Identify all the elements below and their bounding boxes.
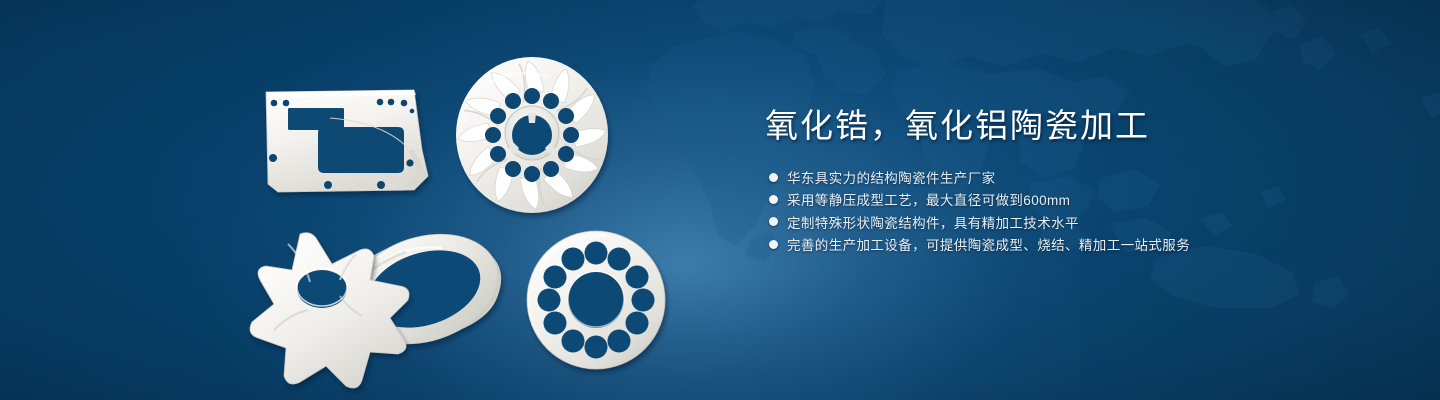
list-item-label: 完善的生产加工设备，可提供陶瓷成型、烧结、精加工一站式服务 bbox=[787, 234, 1190, 254]
product-photo-cluster bbox=[0, 0, 720, 400]
list-item: 完善的生产加工设备，可提供陶瓷成型、烧结、精加工一站式服务 bbox=[765, 233, 1405, 255]
list-item-label: 采用等静压成型工艺，最大直径可做到600mm bbox=[787, 189, 1070, 209]
banner-feature-list: 华东具实力的结构陶瓷件生产厂家 采用等静压成型工艺，最大直径可做到600mm 定… bbox=[765, 166, 1405, 255]
list-item-label: 华东具实力的结构陶瓷件生产厂家 bbox=[787, 167, 996, 187]
bullet-dot-icon bbox=[769, 217, 778, 226]
list-item: 定制特殊形状陶瓷结构件，具有精加工技术水平 bbox=[765, 211, 1405, 233]
bullet-dot-icon bbox=[769, 195, 778, 204]
ceramic-impeller-disc bbox=[456, 57, 608, 213]
banner-text-block: 氧化锆，氧化铝陶瓷加工 华东具实力的结构陶瓷件生产厂家 采用等静压成型工艺，最大… bbox=[765, 104, 1405, 255]
bullet-dot-icon bbox=[769, 173, 778, 182]
list-item: 采用等静压成型工艺，最大直径可做到600mm bbox=[765, 188, 1405, 210]
promo-banner: 氧化锆，氧化铝陶瓷加工 华东具实力的结构陶瓷件生产厂家 采用等静压成型工艺，最大… bbox=[0, 0, 1440, 400]
list-item-label: 定制特殊形状陶瓷结构件，具有精加工技术水平 bbox=[787, 212, 1079, 232]
ceramic-machined-plate bbox=[266, 90, 428, 192]
bullet-dot-icon bbox=[769, 240, 778, 249]
banner-headline: 氧化锆，氧化铝陶瓷加工 bbox=[765, 104, 1405, 148]
list-item: 华东具实力的结构陶瓷件生产厂家 bbox=[765, 166, 1405, 188]
ceramic-perforated-disc bbox=[527, 231, 665, 369]
